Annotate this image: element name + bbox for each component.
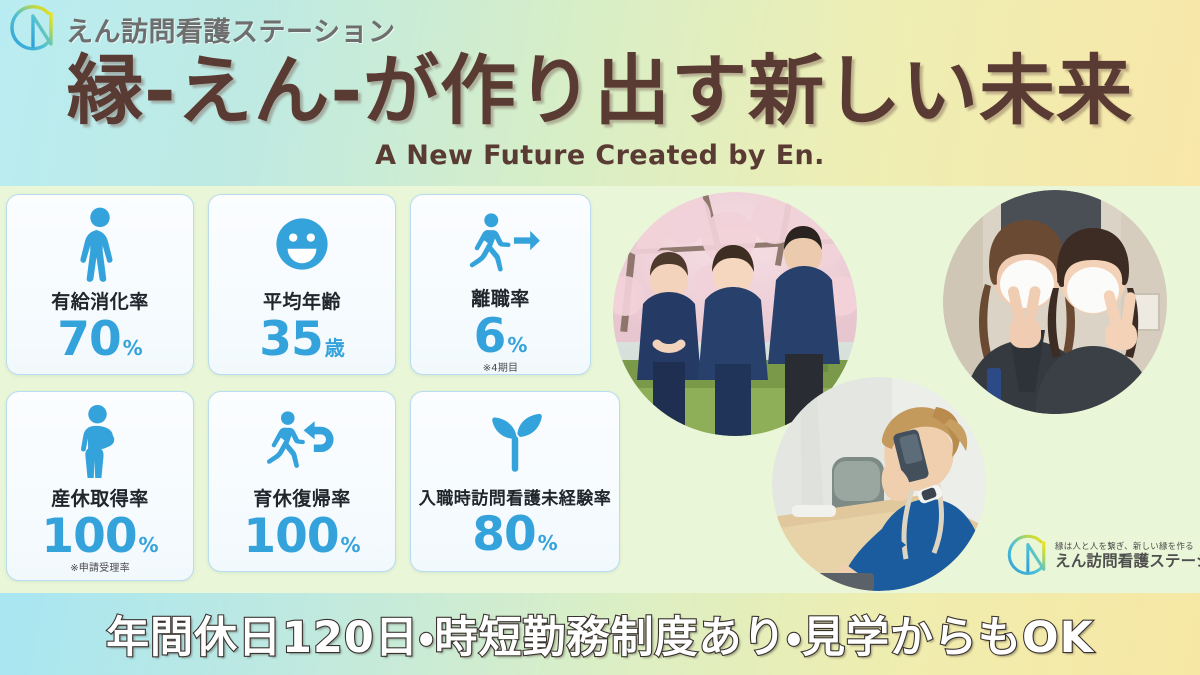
stat-note: ※4期目 [483, 359, 519, 374]
footer-benefits-text: 年間休日120日・時短勤務制度あり・見学からもOK [106, 603, 1094, 665]
stat-value: 100 [243, 513, 338, 560]
stat-unit: % [139, 533, 159, 557]
stat-value-row: 100 % [41, 513, 158, 560]
stat-note: ※申請受理率 [70, 559, 130, 574]
recruitment-poster: えん訪問看護ステーション 縁-えん-が作り出す新しい未来 A New Futur… [0, 0, 1200, 675]
stat-unit: % [538, 531, 558, 555]
stat-value: 80 [472, 511, 535, 558]
stat-card-turnover-rate: 離職率 6 % ※4期目 [410, 194, 591, 375]
brand-name: えん訪問看護ステーション [66, 10, 395, 49]
person-walking-arrow-right-icon [462, 201, 540, 284]
stat-label: 有給消化率 [51, 287, 149, 314]
stat-label: 産休取得率 [51, 484, 149, 511]
stat-unit: 歳 [325, 332, 345, 361]
stat-label: 平均年齢 [263, 287, 341, 314]
person-walking-return-arrow-icon [264, 398, 340, 484]
stat-value-row: 100 % [243, 513, 360, 560]
person-standing-icon [69, 201, 131, 287]
en-circular-monogram-logo-icon [1004, 533, 1050, 579]
stat-unit: % [341, 533, 361, 557]
stat-label: 入職時訪問看護未経験率 [419, 484, 612, 509]
sprout-leaf-icon [481, 398, 549, 484]
stat-value-row: 35 歳 [259, 316, 344, 363]
page-subtitle: A New Future Created by En. [0, 140, 1200, 171]
photo-nurse-on-phone [772, 377, 986, 591]
stat-value: 70 [57, 316, 120, 363]
page-title: 縁-えん-が作り出す新しい未来 [0, 52, 1200, 130]
watermark-texts: 縁は人と人を繋ぎ、新しい縁を作る えん訪問看護ステーション [1055, 543, 1200, 569]
stat-card-no-prior-experience: 入職時訪問看護未経験率 80 % [410, 391, 620, 572]
stat-label: 育休復帰率 [253, 484, 351, 511]
stat-value: 35 [259, 316, 322, 363]
watermark-logo: 縁は人と人を繋ぎ、新しい縁を作る えん訪問看護ステーション [1004, 528, 1192, 584]
stat-value-row: 70 % [57, 316, 142, 363]
stat-card-maternity-leave: 産休取得率 100 % ※申請受理率 [6, 391, 194, 581]
smiley-face-icon [270, 201, 334, 287]
stat-card-paid-leave: 有給消化率 70 % [6, 194, 194, 375]
stat-value-row: 80 % [472, 511, 557, 558]
stat-value: 6 [474, 313, 506, 360]
stat-unit: % [123, 336, 143, 360]
stat-card-average-age: 平均年齢 35 歳 [208, 194, 396, 375]
photo-two-staff-peace-sign [943, 190, 1167, 414]
watermark-name: えん訪問看護ステーション [1055, 554, 1200, 570]
stat-card-childcare-return: 育休復帰率 100 % [208, 391, 396, 572]
stat-value-row: 6 % [474, 313, 528, 360]
footer-band: 年間休日120日・時短勤務制度あり・見学からもOK [0, 593, 1200, 675]
stat-label: 離職率 [471, 284, 530, 311]
en-circular-monogram-logo-icon [6, 4, 58, 54]
stat-value: 100 [41, 513, 136, 560]
header-band: えん訪問看護ステーション 縁-えん-が作り出す新しい未来 A New Futur… [0, 0, 1200, 186]
watermark-tagline: 縁は人と人を繋ぎ、新しい縁を作る [1055, 543, 1200, 552]
pregnant-person-icon [69, 398, 131, 484]
stat-unit: % [507, 333, 527, 357]
